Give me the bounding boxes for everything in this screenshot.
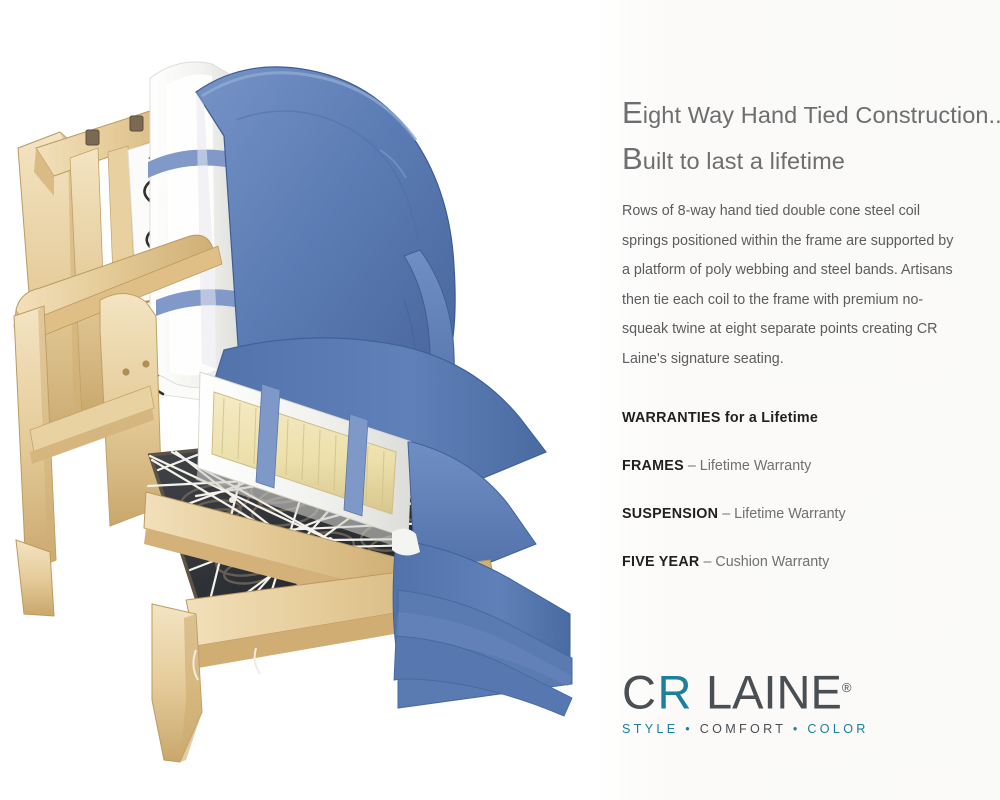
product-photo bbox=[0, 0, 620, 800]
tagline-separator-2-icon: • bbox=[793, 722, 801, 736]
warranty-item-five-year: FIVE YEAR – Cushion Warranty bbox=[622, 550, 982, 598]
registered-trademark-icon: ® bbox=[842, 680, 852, 695]
headline-line-2-rest: uilt to last a lifetime bbox=[643, 148, 845, 174]
warranty-label-five-year: FIVE YEAR bbox=[622, 554, 699, 570]
warranty-label-suspension: SUSPENSION bbox=[622, 506, 718, 522]
copy-column: Eight Way Hand Tied Construction... Buil… bbox=[622, 0, 1000, 800]
warranty-dash-five-year: – bbox=[699, 554, 715, 570]
warranty-item-suspension: SUSPENSION – Lifetime Warranty bbox=[622, 502, 982, 550]
logo-word-laine: LAINE bbox=[693, 666, 842, 719]
headline-line-1: Eight Way Hand Tied Construction... bbox=[622, 92, 990, 138]
logo-letter-r: R bbox=[657, 666, 692, 719]
poster-root: Eight Way Hand Tied Construction... Buil… bbox=[0, 0, 1000, 800]
warranty-list: WARRANTIES for a Lifetime FRAMES – Lifet… bbox=[622, 406, 982, 598]
warranty-heading: WARRANTIES for a Lifetime bbox=[622, 406, 982, 454]
headline-line-1-rest: ight Way Hand Tied Construction... bbox=[643, 102, 1000, 128]
warranty-heading-text: WARRANTIES for a Lifetime bbox=[622, 410, 818, 426]
headline-dropcap-e: E bbox=[622, 95, 643, 130]
headline-line-2: Built to last a lifetime bbox=[622, 138, 990, 184]
warranty-value-suspension: Lifetime Warranty bbox=[734, 506, 846, 522]
tagline-separator-1-icon: • bbox=[685, 722, 693, 736]
headline-dropcap-b: B bbox=[622, 141, 643, 176]
page-title: Eight Way Hand Tied Construction... Buil… bbox=[622, 92, 990, 184]
tagline-word-comfort: COMFORT bbox=[700, 722, 786, 736]
warranty-value-five-year: Cushion Warranty bbox=[715, 554, 829, 570]
warranty-dash-suspension: – bbox=[718, 506, 734, 522]
warranty-dash-frames: – bbox=[684, 458, 700, 474]
chair-illustration bbox=[0, 0, 620, 800]
logo-wordmark: CR LAINE® bbox=[622, 662, 982, 719]
warranty-label-frames: FRAMES bbox=[622, 458, 684, 474]
logo-tagline: STYLE • COMFORT • COLOR bbox=[622, 722, 982, 736]
warranty-item-frames: FRAMES – Lifetime Warranty bbox=[622, 454, 982, 502]
logo-letter-c: C bbox=[622, 666, 657, 719]
body-paragraph: Rows of 8-way hand tied double cone stee… bbox=[622, 197, 962, 374]
tagline-word-color: COLOR bbox=[807, 722, 868, 736]
cr-laine-logo: CR LAINE® STYLE • COMFORT • COLOR bbox=[622, 662, 982, 736]
warranty-value-frames: Lifetime Warranty bbox=[700, 458, 812, 474]
tagline-word-style: STYLE bbox=[622, 722, 678, 736]
